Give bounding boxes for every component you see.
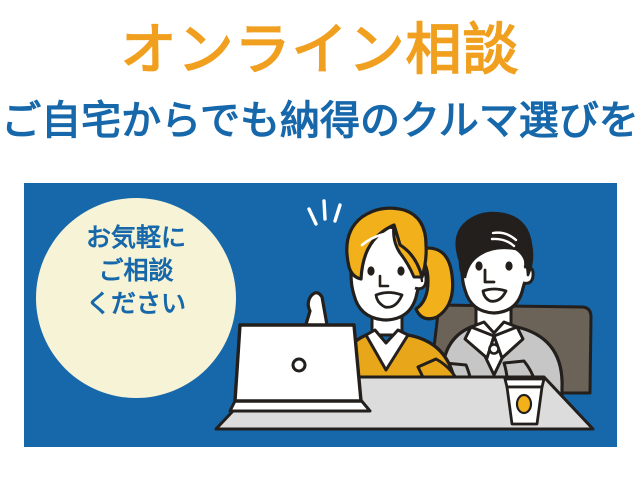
illustration-panel: お気軽に ご相談 ください xyxy=(24,183,617,447)
laptop-logo-icon xyxy=(293,359,305,371)
laptop-shape xyxy=(230,325,370,411)
coffee-cup-shape xyxy=(505,379,544,424)
page-title: オンライン相談 xyxy=(0,22,640,81)
badge-circle xyxy=(36,198,236,398)
page-subtitle: ご自宅からでも納得のクルマ選びを xyxy=(0,100,640,142)
illustration-svg xyxy=(24,183,617,447)
online-consultation-banner: オンライン相談 ご自宅からでも納得のクルマ選びを xyxy=(0,0,640,480)
cup-logo-icon xyxy=(517,395,531,413)
